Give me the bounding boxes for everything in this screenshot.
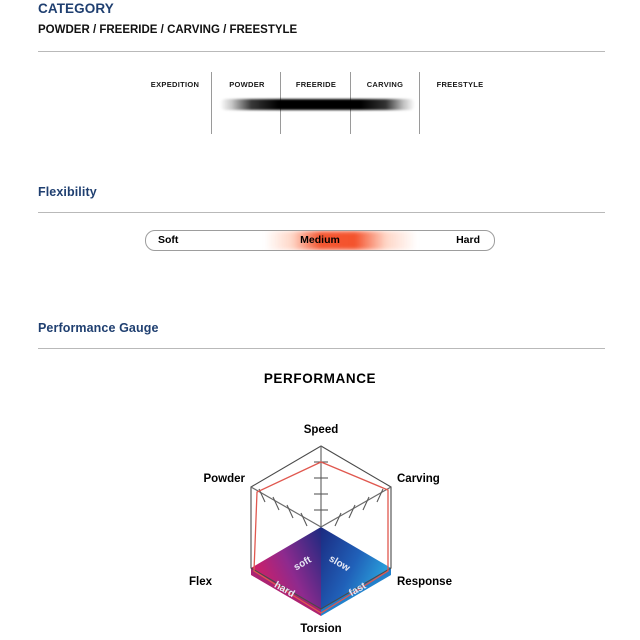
radar-axis-label-speed: Speed	[304, 424, 339, 436]
radar-axis-label-flex: Flex	[189, 576, 212, 588]
flexibility-divider	[38, 212, 605, 213]
performance-gauge-divider	[38, 348, 605, 349]
category-tick-freeride: FREERIDE	[296, 80, 336, 89]
category-tick-freestyle: FREESTYLE	[437, 80, 484, 89]
radar-axis-label-carving: Carving	[397, 473, 440, 485]
radar-tick-powder-1	[301, 513, 307, 526]
radar-tick-carving-3	[363, 497, 369, 510]
flexibility-scale: Soft Medium Hard	[145, 230, 495, 251]
performance-chart-title: PERFORMANCE	[0, 371, 640, 386]
category-tick-expedition: EXPEDITION	[151, 80, 199, 89]
radar-axis-label-response: Response	[397, 576, 452, 588]
radar-svg: soft slow hard fast	[171, 420, 471, 640]
radar-axis-carving	[321, 487, 391, 527]
category-scale-labels: EXPEDITION POWDER FREERIDE CARVING FREES…	[130, 80, 440, 94]
flexibility-label-hard: Hard	[456, 234, 480, 246]
radar-axes	[251, 446, 391, 527]
category-tick-carving: CARVING	[367, 80, 404, 89]
category-tick-powder: POWDER	[229, 80, 265, 89]
radar-gradient-diamond	[251, 527, 391, 616]
performance-radar-chart: soft slow hard fast Speed Carving Respon…	[171, 420, 471, 640]
radar-tick-carving-1	[335, 513, 341, 526]
performance-gauge-heading: Performance Gauge	[38, 321, 159, 335]
category-divider	[38, 51, 605, 52]
radar-tick-carving-2	[349, 505, 355, 518]
category-divider-1	[211, 72, 212, 134]
radar-tick-powder-3	[273, 497, 279, 510]
radar-axis-powder	[251, 487, 321, 527]
flexibility-heading: Flexibility	[38, 185, 97, 199]
category-range-bar	[220, 99, 415, 110]
radar-axis-label-powder: Powder	[203, 473, 245, 485]
radar-tick-carving-4	[377, 489, 383, 502]
flexibility-label-medium: Medium	[300, 234, 340, 246]
flexibility-label-soft: Soft	[158, 234, 178, 246]
board-spec-page: CATEGORY POWDER / FREERIDE / CARVING / F…	[0, 0, 640, 640]
category-scale: EXPEDITION POWDER FREERIDE CARVING FREES…	[130, 72, 440, 134]
category-heading: CATEGORY	[38, 1, 114, 16]
radar-tick-powder-2	[287, 505, 293, 518]
category-subtitle: POWDER / FREERIDE / CARVING / FREESTYLE	[38, 24, 297, 36]
radar-axis-label-torsion: Torsion	[300, 623, 341, 635]
category-divider-4	[419, 72, 420, 134]
